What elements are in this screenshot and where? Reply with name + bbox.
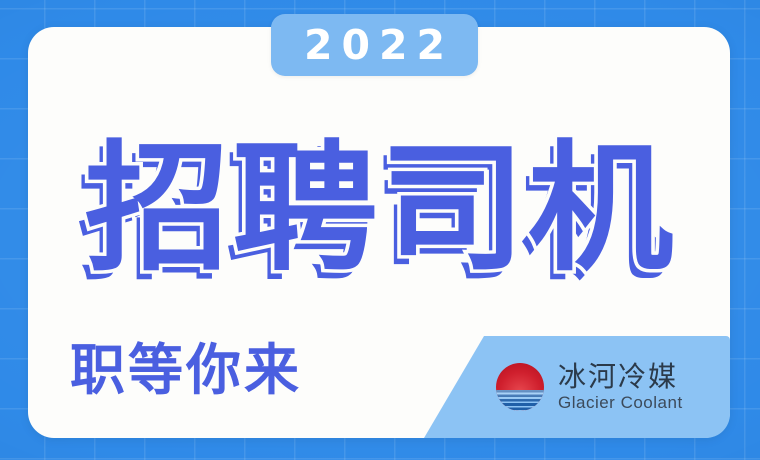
headline: 招聘司机 招聘司机 招聘司机 <box>0 122 760 297</box>
year-badge: 2022 <box>271 14 478 76</box>
sun-over-waves-icon <box>496 363 544 411</box>
recruitment-poster: 2022 招聘司机 招聘司机 招聘司机 职等你来 冰河冷媒 Glacier Co… <box>0 0 760 460</box>
logo-waves <box>496 390 544 411</box>
brand-name-cn: 冰河冷媒 <box>558 362 683 391</box>
brand-name-en: Glacier Coolant <box>558 394 683 412</box>
brand-lockup: 冰河冷媒 Glacier Coolant <box>496 362 683 411</box>
slogan-text: 职等你来 <box>70 343 302 398</box>
year-badge-label: 2022 <box>295 25 454 66</box>
headline-text: 招聘司机 <box>85 140 676 280</box>
brand-name-block: 冰河冷媒 Glacier Coolant <box>558 362 683 411</box>
